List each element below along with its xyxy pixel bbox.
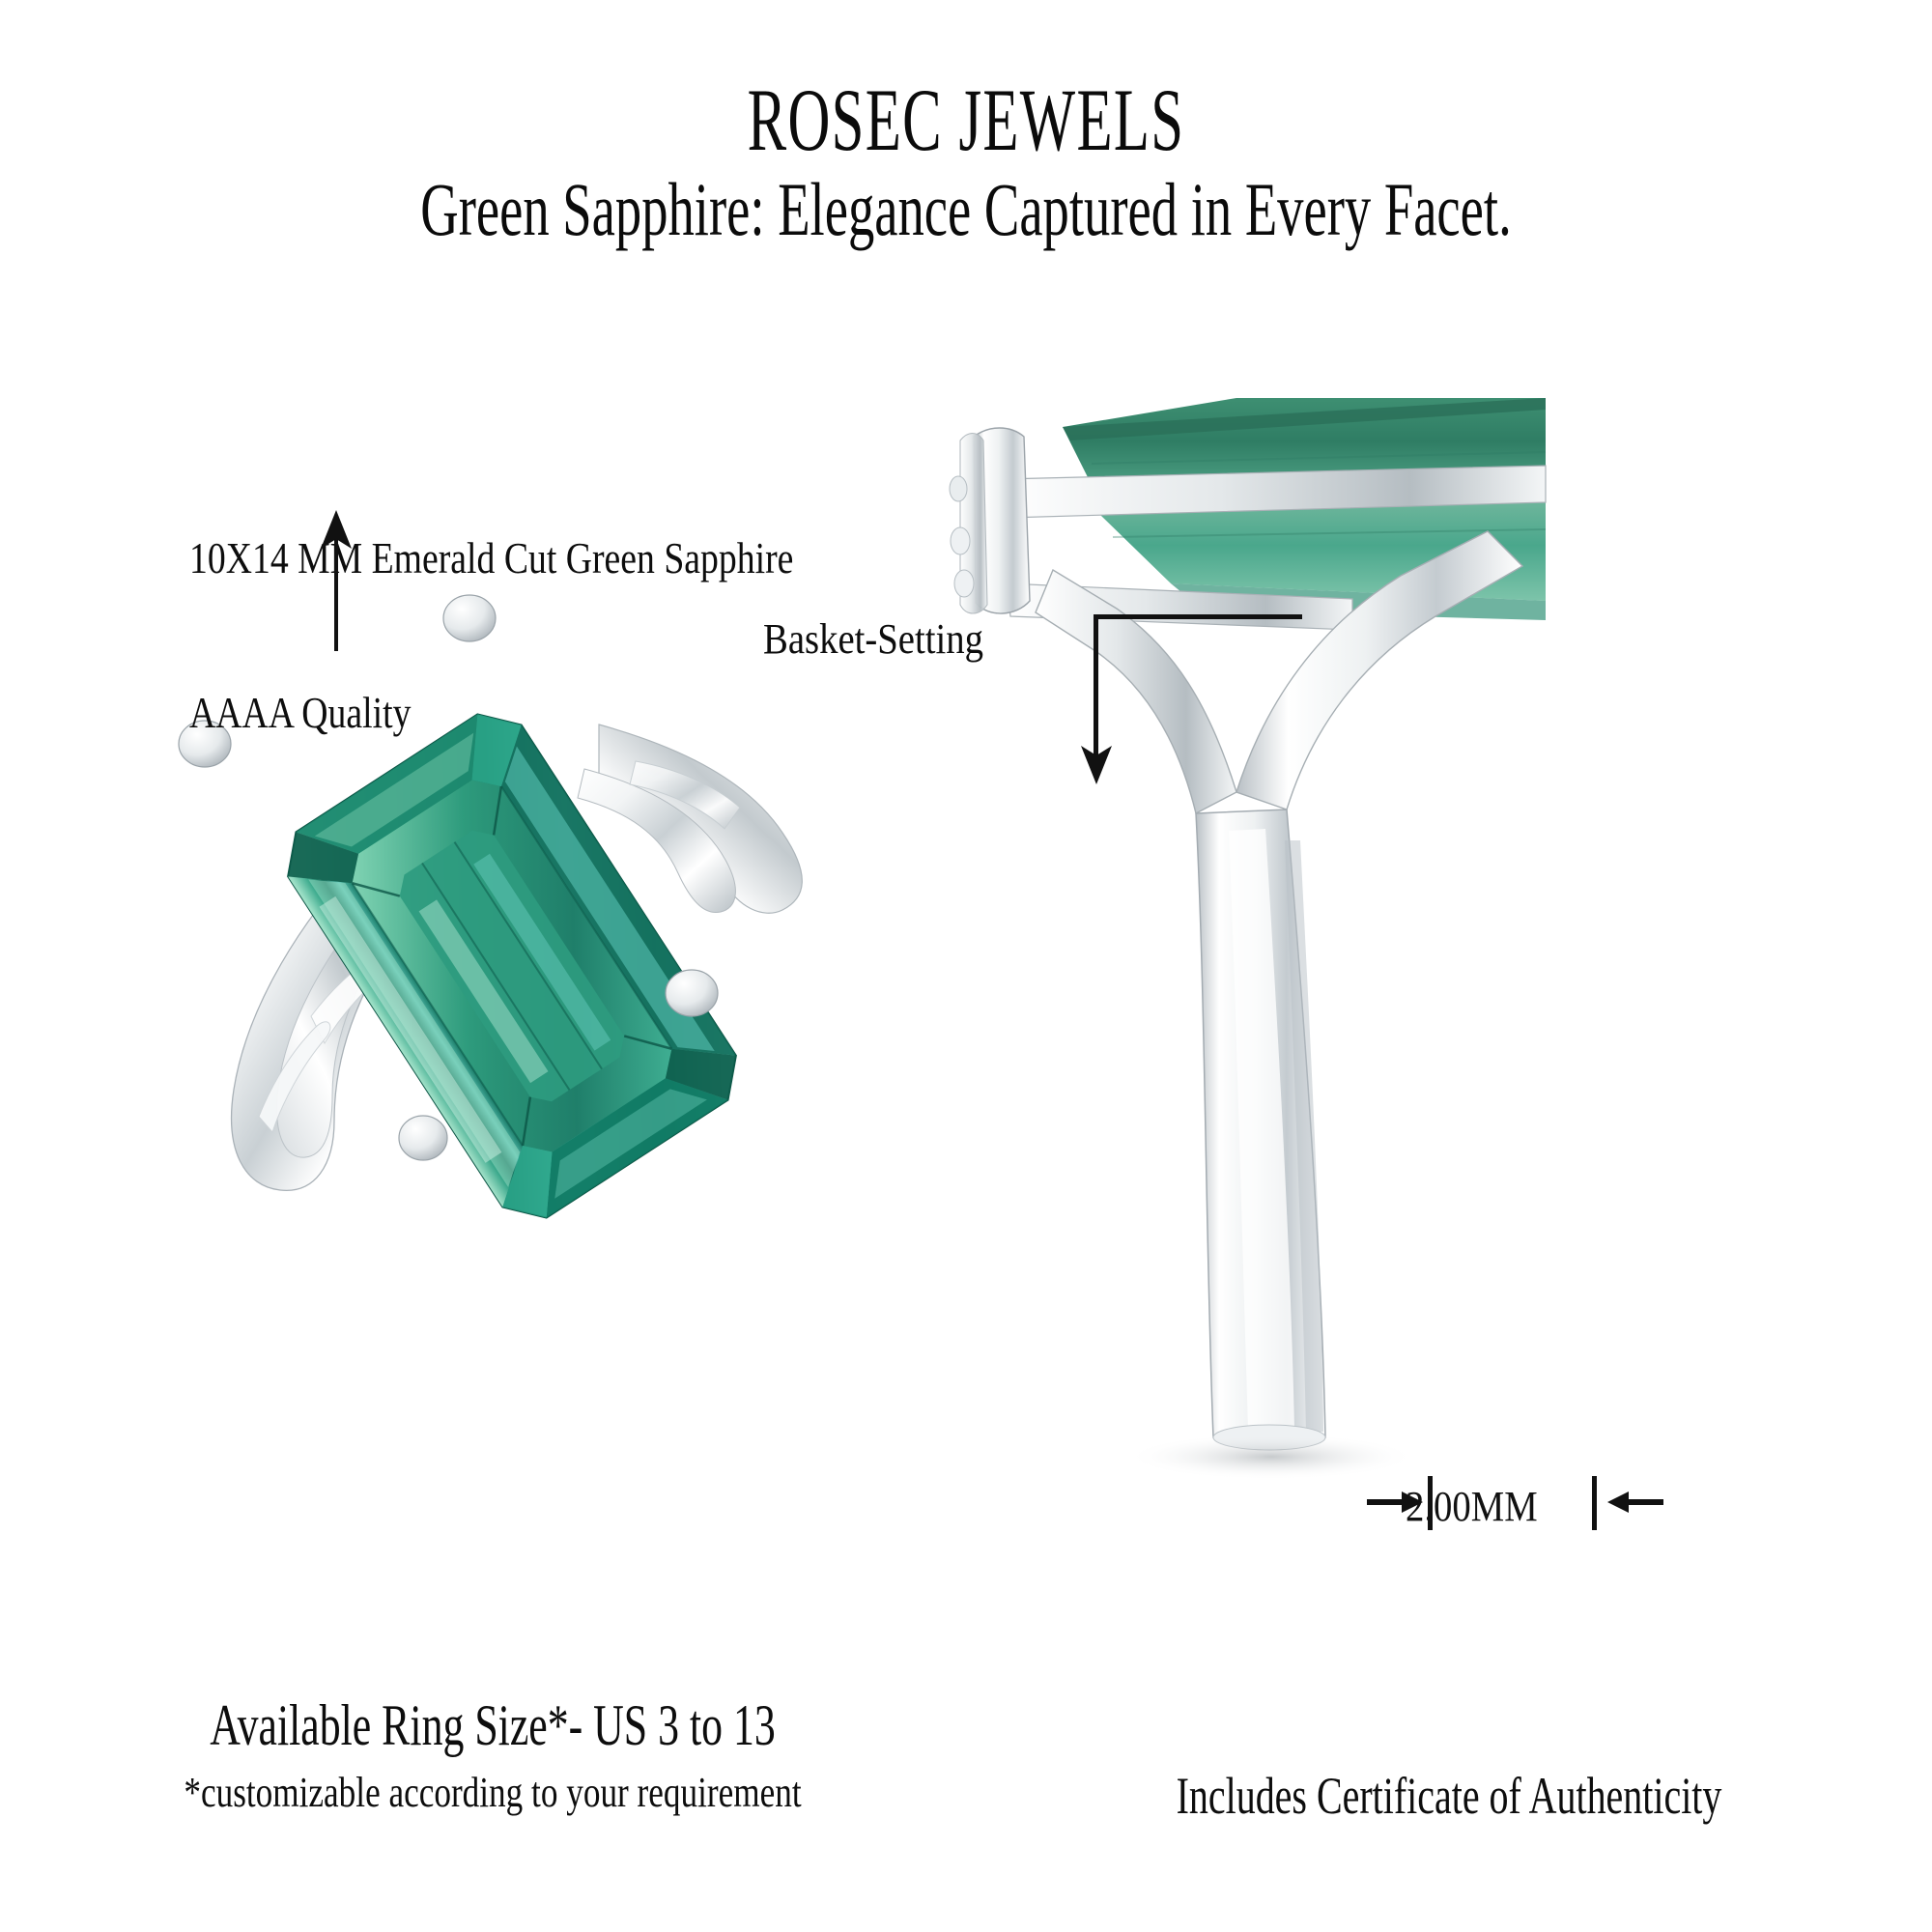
- ring-side-view: [947, 377, 1546, 1517]
- ring-size-note: *customizable according to your requirem…: [160, 1768, 825, 1817]
- gem-spec-annotation: 10X14 MM Emerald Cut Green Sapphire AAAA…: [189, 429, 793, 841]
- arrow-left-icon: [1605, 1488, 1663, 1517]
- gem-spec-line-1: 10X14 MM Emerald Cut Green Sapphire: [189, 532, 793, 583]
- prong-right-icon: [666, 970, 718, 1016]
- arrow-down-icon: [1079, 746, 1114, 784]
- prong-bottom-icon: [399, 1116, 447, 1160]
- gem-leader-line: [334, 537, 338, 651]
- dimension-tick-right: [1592, 1476, 1597, 1530]
- drop-shadow: [1126, 1434, 1416, 1480]
- page-title: ROSEC JEWELS: [328, 75, 1604, 164]
- product-image-canvas: ROSEC JEWELS Green Sapphire: Elegance Ca…: [0, 0, 1932, 1932]
- page-subtitle: Green Sapphire: Elegance Captured in Eve…: [290, 172, 1642, 247]
- ring-side-illustration: [947, 377, 1546, 1517]
- certificate-text: Includes Certificate of Authenticity: [1092, 1766, 1806, 1826]
- basket-leader-horizontal: [1094, 614, 1302, 619]
- arrow-up-icon: [319, 510, 354, 549]
- split-shank-side: [1036, 531, 1522, 1450]
- gem-spec-line-2: AAAA Quality: [189, 687, 793, 738]
- band-dimension-label: 2.00MM: [1406, 1482, 1538, 1531]
- ring-size-text: Available Ring Size*- US 3 to 13: [204, 1692, 782, 1759]
- basket-leader-vertical: [1094, 614, 1098, 755]
- basket-setting-label: Basket-Setting: [763, 614, 983, 664]
